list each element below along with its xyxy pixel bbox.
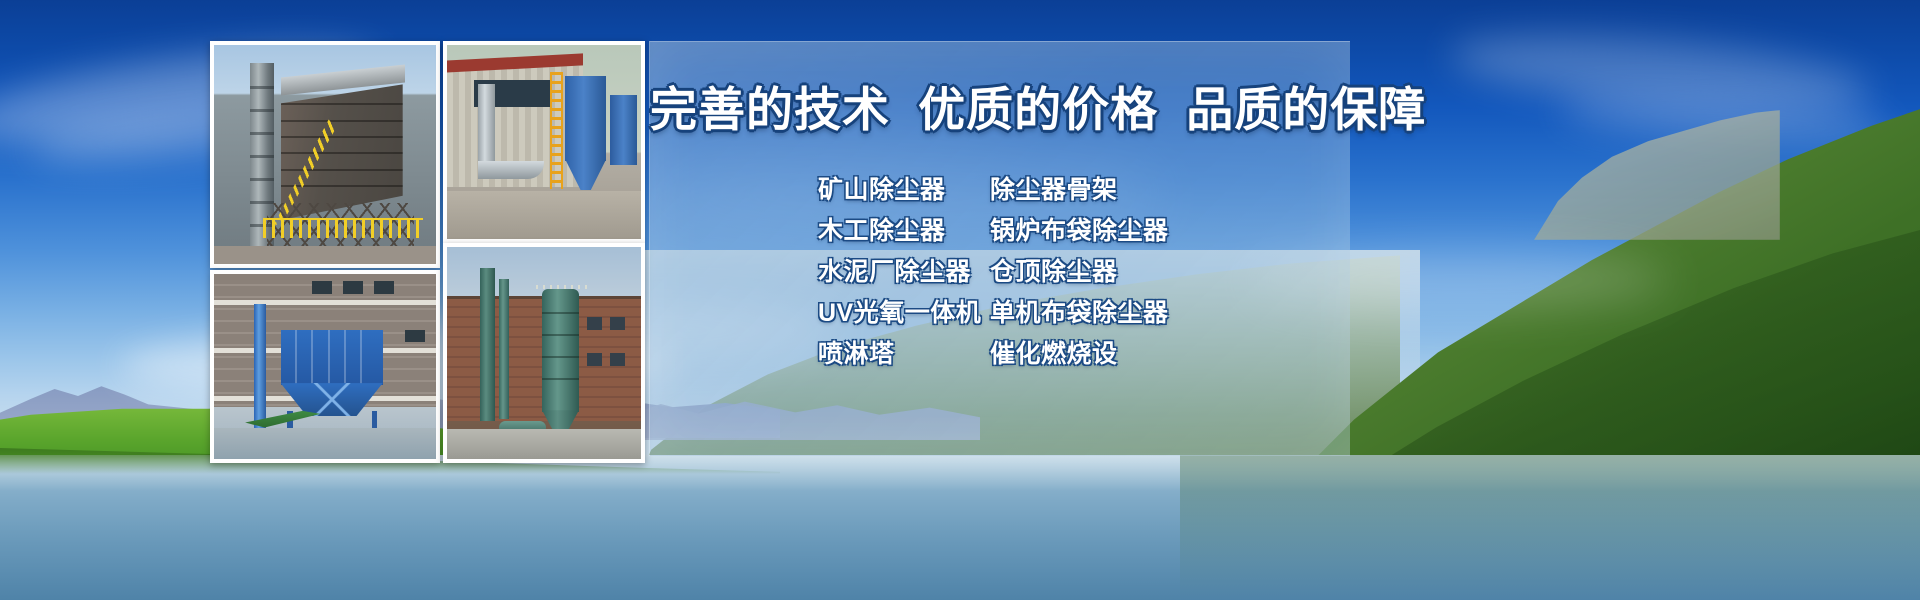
product-row[interactable]: 水泥厂除尘器 仓顶除尘器 <box>818 252 1350 293</box>
yard-ground <box>447 429 641 459</box>
product-name-left: 水泥厂除尘器 <box>818 252 990 288</box>
product-name-left: 木工除尘器 <box>818 211 990 247</box>
hopper-brace <box>281 383 383 416</box>
product-row[interactable]: 木工除尘器 锅炉布袋除尘器 <box>818 211 1350 252</box>
product-row[interactable]: 喷淋塔 催化燃烧设 <box>818 334 1350 375</box>
blue-collector-body <box>565 76 606 161</box>
product-photo-3[interactable] <box>210 270 440 463</box>
product-name-right: 锅炉布袋除尘器 <box>990 211 1169 247</box>
orange-ladder <box>550 72 564 188</box>
product-photo-2-image <box>447 45 641 239</box>
green-stack-2 <box>499 279 509 419</box>
building-window <box>587 317 603 330</box>
product-name-left: 矿山除尘器 <box>818 170 990 206</box>
blue-stack <box>254 304 266 437</box>
platform-railing <box>536 285 586 289</box>
product-photo-4[interactable] <box>443 243 645 463</box>
water-reflection <box>1180 455 1920 600</box>
promo-banner: 完善的技术 优质的价格 品质的保障 矿山除尘器 除尘器骨架 木工除尘器 锅炉布袋… <box>0 0 1920 600</box>
product-name-right: 催化燃烧设 <box>990 334 1118 370</box>
product-name-right: 单机布袋除尘器 <box>990 293 1169 329</box>
scrubber-tower <box>542 289 579 412</box>
product-photo-1-image <box>214 45 436 264</box>
product-photo-3-image <box>214 274 436 459</box>
product-name-right: 除尘器骨架 <box>990 170 1118 206</box>
product-photo-2[interactable] <box>443 41 645 243</box>
product-row[interactable]: 矿山除尘器 除尘器骨架 <box>818 170 1350 211</box>
headline-slogan: 完善的技术 优质的价格 品质的保障 <box>650 86 1350 133</box>
silver-duct-bend <box>478 161 544 178</box>
yard-ground <box>447 191 641 240</box>
product-row[interactable]: UV光氧一体机 单机布袋除尘器 <box>818 293 1350 334</box>
blue-filter-body <box>281 330 383 386</box>
yellow-railing <box>263 218 423 238</box>
blue-collector-body-2 <box>610 95 637 165</box>
building-window <box>374 281 394 294</box>
facade-band <box>214 300 436 305</box>
yard-ground <box>214 428 436 459</box>
text-panel: 完善的技术 优质的价格 品质的保障 矿山除尘器 除尘器骨架 木工除尘器 锅炉布袋… <box>649 41 1350 456</box>
concrete-base <box>214 246 436 264</box>
product-photo-1[interactable] <box>210 41 440 268</box>
silver-duct <box>478 84 495 173</box>
product-name-left: 喷淋塔 <box>818 334 990 370</box>
building-window <box>587 353 603 366</box>
building-window <box>610 353 626 366</box>
product-photo-4-image <box>447 247 641 459</box>
building-window <box>610 317 626 330</box>
product-list: 矿山除尘器 除尘器骨架 木工除尘器 锅炉布袋除尘器 水泥厂除尘器 仓顶除尘器 U… <box>818 170 1350 375</box>
building-window <box>405 330 425 343</box>
product-name-right: 仓顶除尘器 <box>990 252 1118 288</box>
product-name-left: UV光氧一体机 <box>818 293 990 329</box>
building-window <box>343 281 363 294</box>
green-stack-1 <box>480 268 495 421</box>
building-window <box>312 281 332 294</box>
collector-body <box>281 84 403 220</box>
